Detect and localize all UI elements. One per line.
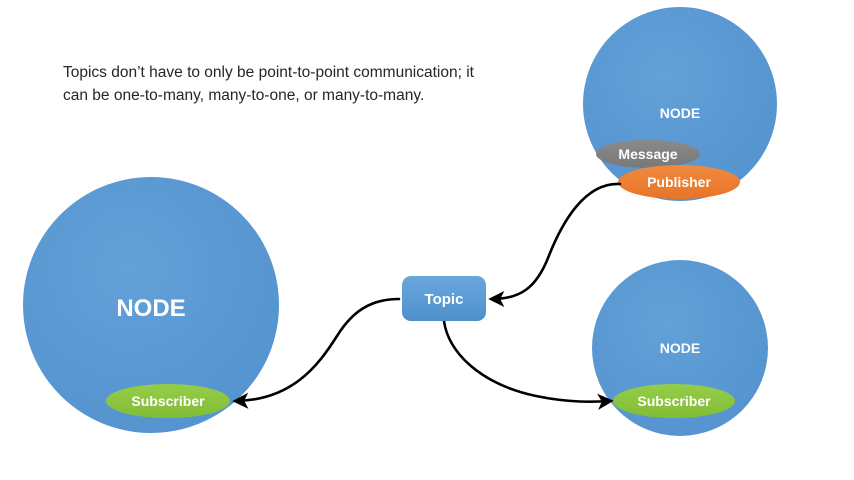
subscriber-pill-left-label: Subscriber [131,393,205,409]
message-callout-label: Message [618,146,677,162]
subscriber-pill-left[interactable]: Subscriber [106,384,230,418]
message-callout[interactable]: Message [596,140,700,168]
publisher-pill[interactable]: Publisher [618,165,740,199]
subscriber-pill-bottom-right[interactable]: Subscriber [613,384,735,418]
edge-topic-to-subscriber-bottom-right [444,321,610,402]
node-left-label: NODE [116,295,185,322]
caption-line-2: can be one-to-many, many-to-one, or many… [63,87,424,104]
node-bottom-right-label: NODE [660,340,700,356]
node-left[interactable]: NODE Subscriber [23,177,279,433]
caption-block: Topics don’t have to only be point-to-po… [63,64,475,104]
node-bottom-right[interactable]: NODE Subscriber [592,260,768,436]
caption-line-1: Topics don’t have to only be point-to-po… [63,64,475,81]
publisher-pill-label: Publisher [647,174,711,190]
topic-box[interactable]: Topic [402,276,486,321]
slide-canvas: Topics don’t have to only be point-to-po… [0,0,854,480]
pubsub-topic-diagram: Topics don’t have to only be point-to-po… [0,0,854,480]
edge-publisher-to-topic [492,184,620,299]
node-top-right[interactable]: NODE Message Publisher [583,7,777,201]
topic-box-label: Topic [425,291,464,308]
subscriber-pill-bottom-right-label: Subscriber [637,393,711,409]
node-top-right-label: NODE [660,105,700,121]
